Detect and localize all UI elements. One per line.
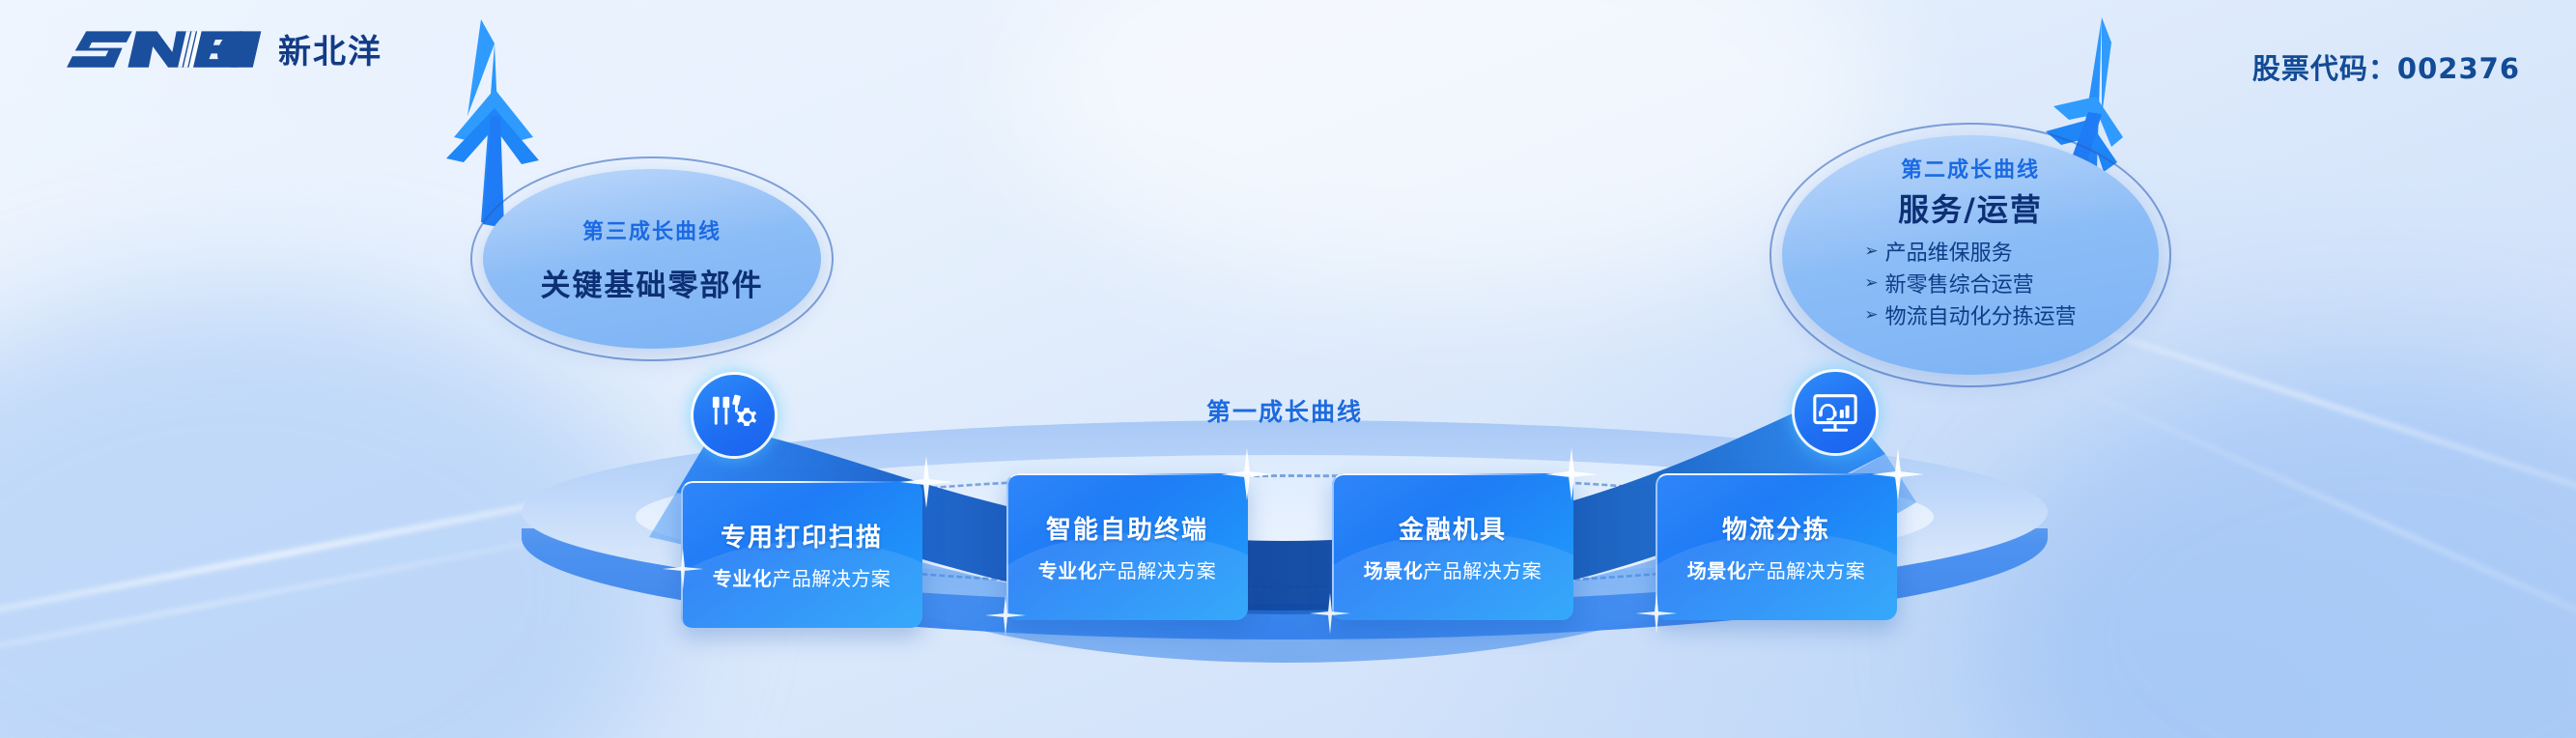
chevron-right-icon: ➢ — [1864, 243, 1878, 260]
card-subtitle: 专业化产品解决方案 — [713, 563, 892, 591]
monitor-headset-chart-icon — [1811, 388, 1859, 437]
third-growth-curve-bubble[interactable]: 第三成长曲线 关键基础零部件 — [483, 169, 821, 349]
brand-logo-cn: 新北洋 — [278, 25, 382, 72]
product-card[interactable]: 智能自助终端 专业化产品解决方案 — [1006, 473, 1248, 620]
second-curve-subtitle: 第二成长曲线 — [1901, 153, 2040, 184]
second-curve-title: 服务/运营 — [1898, 185, 2043, 230]
snbc-logo-icon — [54, 27, 263, 71]
sliders-gear-icon — [710, 391, 758, 440]
list-item-label: 新零售综合运营 — [1885, 268, 2034, 298]
card-title: 物流分拣 — [1722, 510, 1830, 546]
brand-logo: 新北洋 — [54, 25, 382, 72]
card-subtitle-rest: 产品解决方案 — [1097, 559, 1216, 582]
service-operations-icon-badge[interactable] — [1795, 372, 1876, 453]
card-highlight-edge — [1332, 473, 1573, 620]
chevron-right-icon: ➢ — [1864, 275, 1878, 292]
card-subtitle: 专业化产品解决方案 — [1038, 555, 1217, 583]
card-subtitle-rest: 产品解决方案 — [1746, 559, 1865, 582]
card-subtitle-bold: 专业化 — [713, 567, 773, 590]
list-item: ➢ 新零售综合运营 — [1864, 268, 2076, 298]
card-subtitle-bold: 场景化 — [1364, 559, 1424, 582]
list-item-label: 物流自动化分拣运营 — [1885, 299, 2077, 330]
second-growth-curve-bubble[interactable]: 第二成长曲线 服务/运营 ➢ 产品维保服务 ➢ 新零售综合运营 ➢ 物流自动化分… — [1782, 135, 2159, 375]
card-title: 金融机具 — [1399, 510, 1507, 546]
card-subtitle-rest: 产品解决方案 — [772, 567, 891, 590]
card-title: 专用打印扫描 — [721, 518, 883, 553]
product-card[interactable]: 专用打印扫描 专业化产品解决方案 — [681, 481, 922, 628]
list-item: ➢ 产品维保服务 — [1864, 236, 2076, 267]
third-curve-subtitle: 第三成长曲线 — [582, 214, 722, 245]
product-card[interactable]: 金融机具 场景化产品解决方案 — [1332, 473, 1573, 620]
card-subtitle-bold: 专业化 — [1038, 559, 1098, 582]
card-highlight-edge — [1656, 473, 1897, 620]
sliders-gear-icon-badge[interactable] — [694, 375, 775, 456]
card-subtitle-bold: 场景化 — [1687, 559, 1747, 582]
third-curve-title: 关键基础零部件 — [541, 261, 764, 304]
second-curve-list: ➢ 产品维保服务 ➢ 新零售综合运营 ➢ 物流自动化分拣运营 — [1864, 236, 2076, 330]
card-highlight-edge — [1006, 473, 1248, 620]
card-subtitle: 场景化产品解决方案 — [1364, 555, 1543, 583]
list-item: ➢ 物流自动化分拣运营 — [1864, 299, 2076, 330]
chevron-right-icon: ➢ — [1864, 307, 1878, 324]
list-item-label: 产品维保服务 — [1885, 236, 2013, 267]
stock-code-label: 股票代码：002376 — [2252, 46, 2520, 87]
card-subtitle-rest: 产品解决方案 — [1423, 559, 1542, 582]
card-highlight-edge — [681, 481, 922, 628]
card-title: 智能自助终端 — [1046, 510, 1208, 546]
infographic-canvas: 新北洋 股票代码：002376 第一成长曲线 — [0, 0, 2576, 738]
card-subtitle: 场景化产品解决方案 — [1687, 555, 1866, 583]
product-card[interactable]: 物流分拣 场景化产品解决方案 — [1656, 473, 1897, 620]
